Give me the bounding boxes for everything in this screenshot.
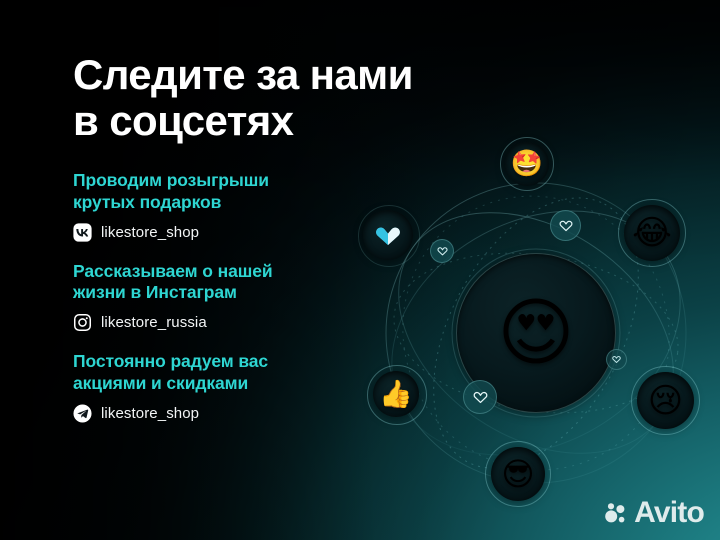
page-title-line-1: Следите за нами (73, 52, 393, 98)
telegram-icon[interactable] (73, 404, 92, 423)
social-block-vk: Проводим розыгрыши крутых подарков likes… (73, 170, 393, 241)
heart-outline-icon (437, 246, 448, 256)
vk-handle-text: likestore_shop (101, 224, 199, 241)
social-promo-banner: 😍 🤩 😂 😢 😎 👍 (0, 0, 720, 540)
heart-outline-icon (612, 355, 621, 364)
instagram-icon[interactable] (73, 313, 92, 332)
social-handle-telegram[interactable]: likestore_shop (73, 404, 393, 423)
title-line: акциями и скидками (73, 373, 393, 395)
social-block-vk-title: Проводим розыгрыши крутых подарков (73, 170, 393, 213)
avito-dots-logo (603, 500, 629, 526)
title-line: Рассказываем о нашей (73, 261, 393, 283)
orbit-node-crying-ring (631, 366, 700, 435)
instagram-handle-text: likestore_russia (101, 314, 207, 331)
social-handle-instagram[interactable]: likestore_russia (73, 313, 393, 332)
social-block-instagram: Рассказываем о нашей жизни в Инстаграм l… (73, 261, 393, 332)
title-line: крутых подарков (73, 192, 393, 214)
avito-watermark: Avito (603, 498, 704, 528)
text-column: Следите за нами в соцсетях Проводим розы… (73, 52, 393, 423)
heart-badge-right (606, 349, 627, 370)
orbit-node-star-struck-ring (500, 137, 554, 191)
title-line: жизни в Инстаграм (73, 282, 393, 304)
social-block-instagram-title: Рассказываем о нашей жизни в Инстаграм (73, 261, 393, 304)
heart-badge-upper-right (550, 210, 581, 241)
emoji-orbit-graphic: 😍 🤩 😂 😢 😎 👍 (352, 140, 720, 520)
avito-wordmark: Avito (634, 498, 704, 528)
telegram-handle-text: likestore_shop (101, 405, 199, 422)
heart-outline-icon (473, 390, 488, 404)
social-block-telegram-title: Постоянно радуем вас акциями и скидками (73, 351, 393, 394)
social-block-telegram: Постоянно радуем вас акциями и скидками … (73, 351, 393, 422)
social-handle-vk[interactable]: likestore_shop (73, 223, 393, 242)
heart-badge-upper-left (430, 239, 454, 263)
page-title-line-2: в соцсетях (73, 98, 393, 144)
heart-badge-lower-left (463, 380, 497, 414)
orbit-node-joy-ring (618, 199, 686, 267)
social-blocks: Проводим розыгрыши крутых подарков likes… (73, 170, 393, 422)
heart-outline-icon (559, 219, 573, 232)
orbit-node-sunglasses-ring (485, 441, 551, 507)
title-line: Постоянно радуем вас (73, 351, 393, 373)
vk-icon[interactable] (73, 223, 92, 242)
page-title: Следите за нами в соцсетях (73, 52, 393, 144)
title-line: Проводим розыгрыши (73, 170, 393, 192)
